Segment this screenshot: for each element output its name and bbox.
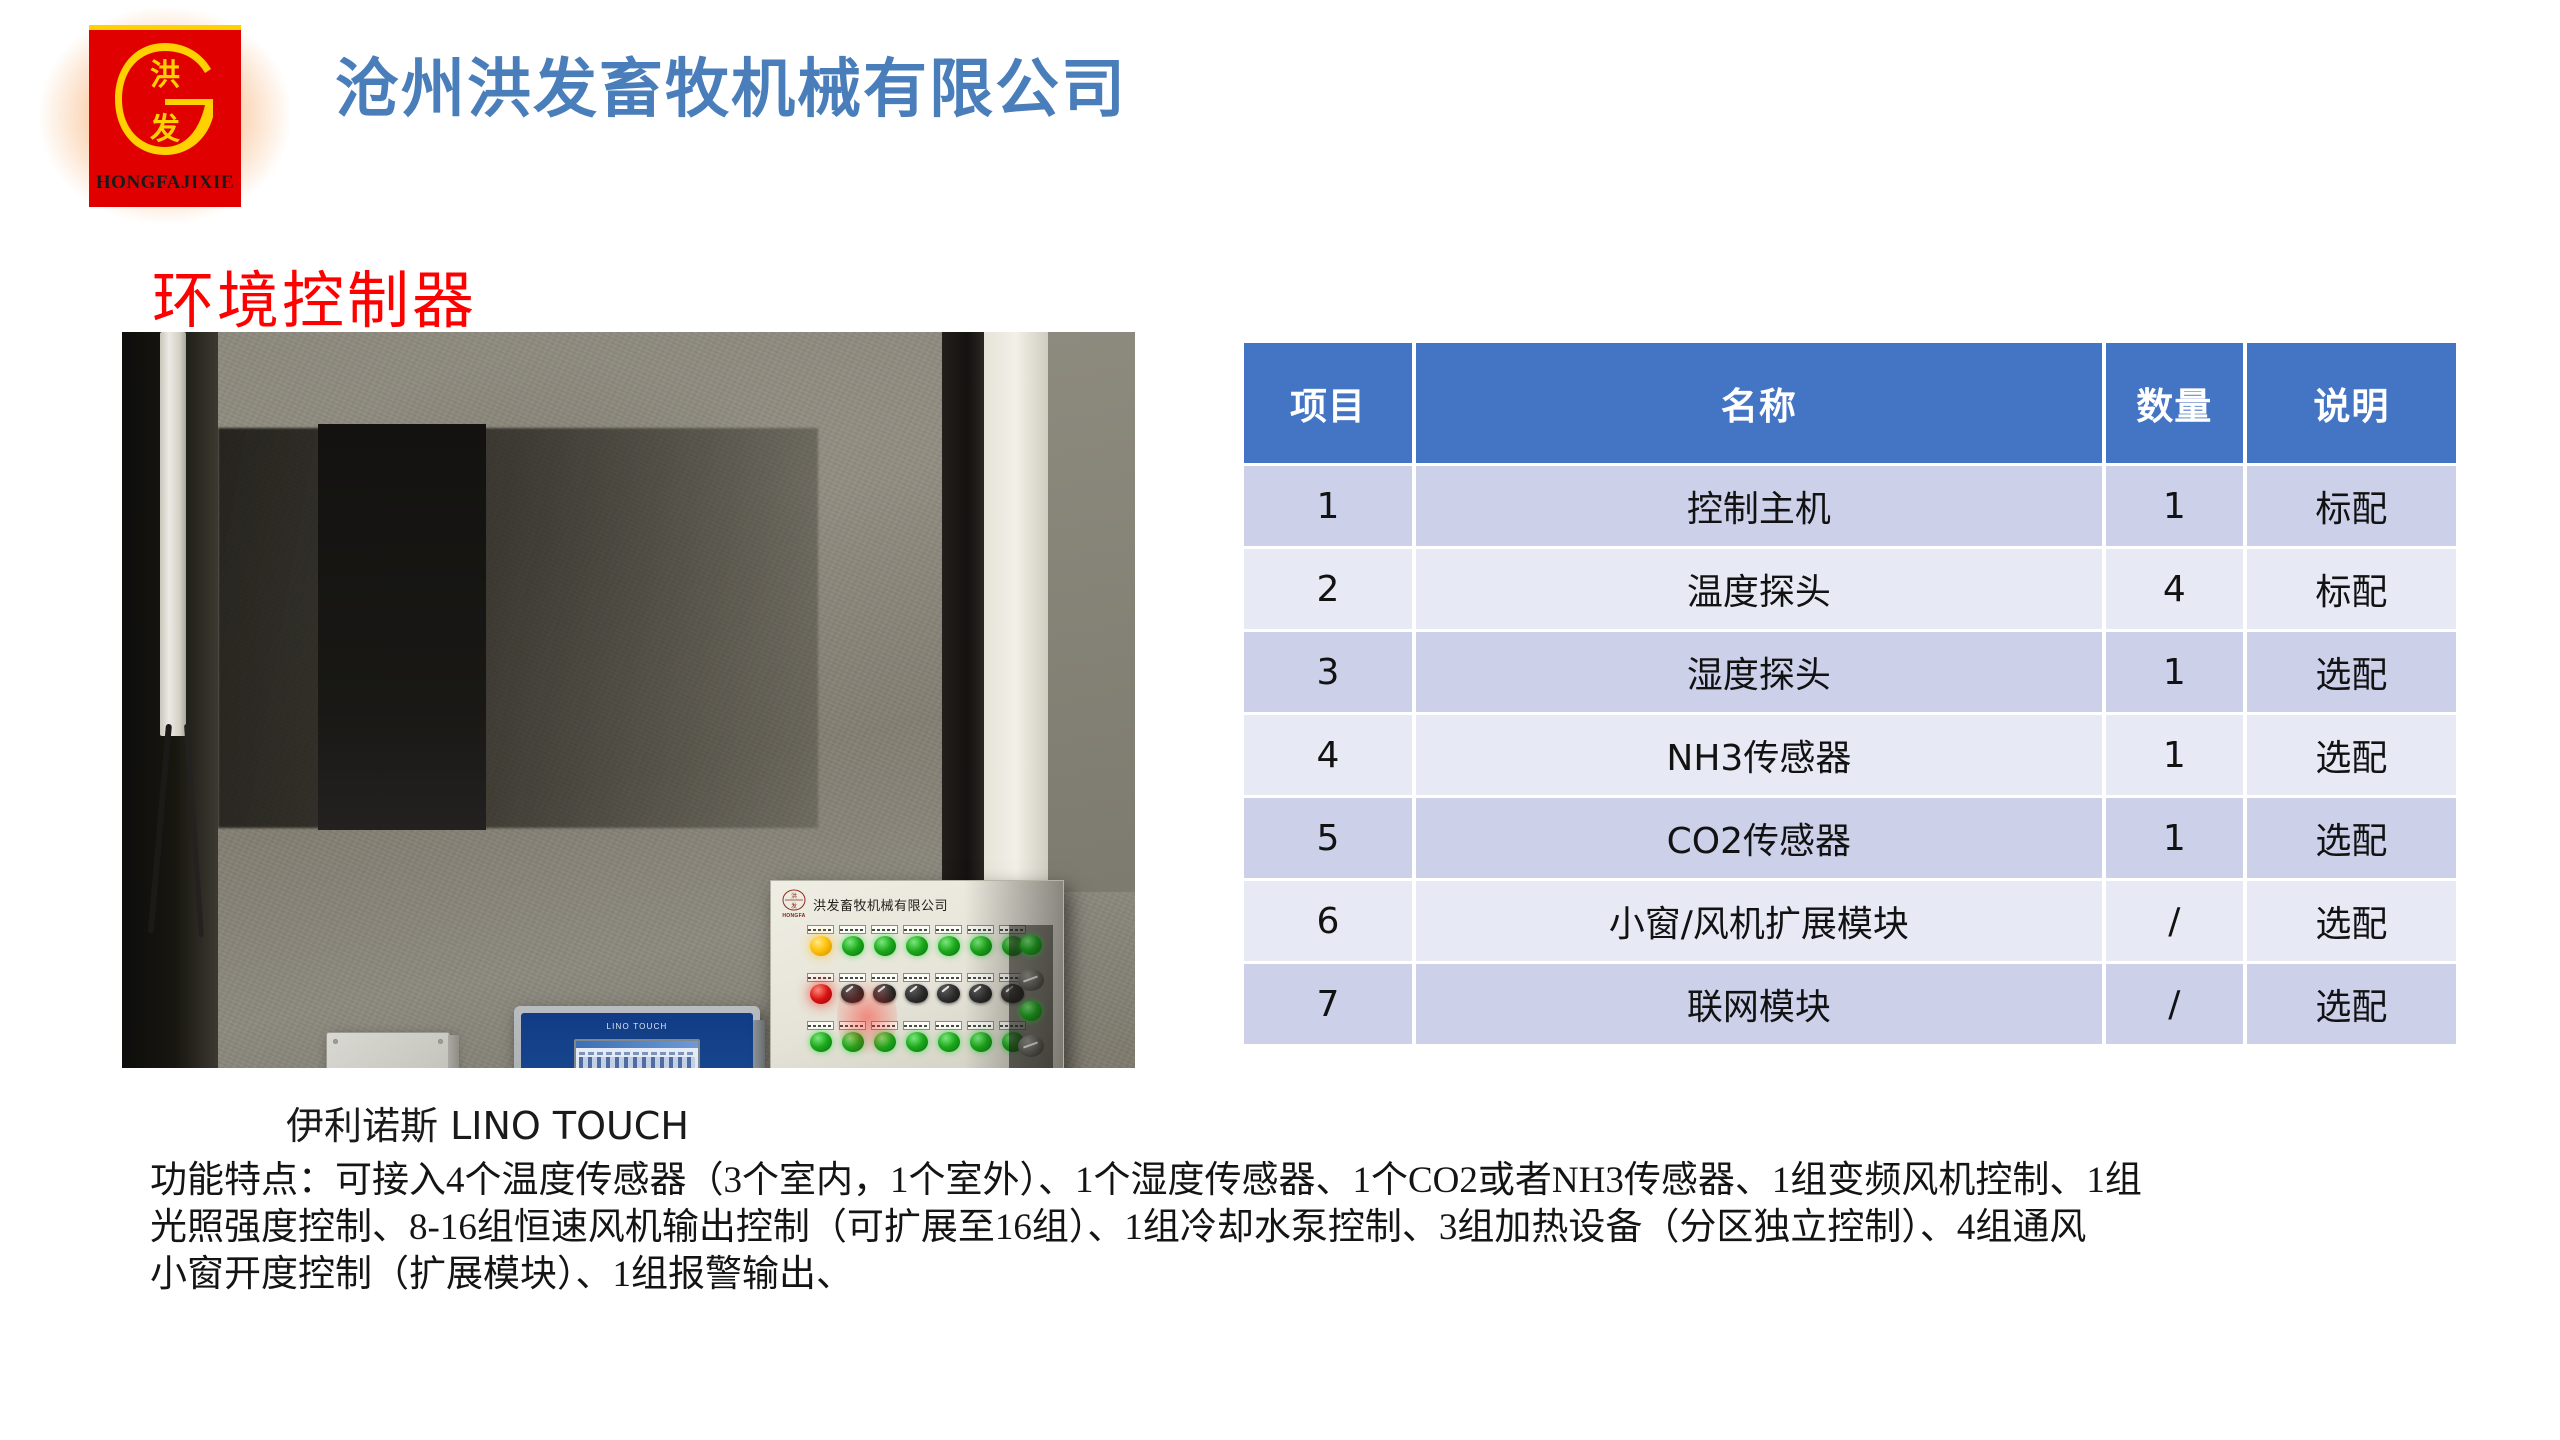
indicator-lamp-green[interactable]	[906, 936, 928, 956]
cabinet-knob-row-1	[807, 973, 1021, 1007]
panel-label	[903, 925, 930, 934]
svg-text:发: 发	[149, 112, 180, 147]
cell-item: 5	[1244, 798, 1412, 878]
company-title: 沧州洪发畜牧机械有限公司	[335, 38, 1127, 130]
cell-qty: 4	[2106, 549, 2243, 629]
controller-brand-label: LINO TOUCH	[606, 1022, 667, 1031]
description-line: 小窗开度控制（扩展模块）、1组报警输出、	[150, 1252, 2450, 1299]
cell-note: 选配	[2247, 798, 2456, 878]
indicator-lamp-green[interactable]	[938, 936, 960, 956]
logo-card: 洪 发 HONGFAJIXIE	[89, 25, 241, 207]
cabinet-logo-icon: 洪 发 HONGFA	[781, 889, 807, 919]
panel-cell	[903, 925, 930, 956]
photo-right-dark-jamb	[942, 332, 984, 888]
table-row: 5 CO2传感器 1 选配	[1244, 798, 2456, 878]
cell-name: NH3传感器	[1416, 715, 2102, 795]
panel-label	[871, 1021, 898, 1030]
panel-label	[967, 1021, 994, 1030]
cabinet-lamp-row-1	[807, 925, 1021, 959]
cell-name: 联网模块	[1416, 964, 2102, 1044]
panel-cell	[935, 1021, 962, 1052]
photo-junction-box-side	[448, 1035, 459, 1068]
section-heading: 环境控制器	[152, 250, 477, 340]
cell-note: 选配	[2247, 964, 2456, 1044]
panel-cell	[839, 973, 866, 1003]
svg-text:发: 发	[791, 902, 797, 910]
slide-root: 洪 发 HONGFAJIXIE 沧州洪发畜牧机械有限公司 环境控制器	[0, 0, 2560, 1440]
logo-emblem-icon: 洪 发	[105, 35, 225, 163]
indicator-lamp-green[interactable]	[842, 936, 864, 956]
panel-label	[871, 925, 898, 934]
panel-label	[967, 925, 994, 934]
column-header-item: 项目	[1244, 343, 1412, 463]
column-header-note: 说明	[2247, 343, 2456, 463]
description-line: 功能特点：可接入4个温度传感器（3个室内，1个室外）、1个湿度传感器、1个CO2…	[150, 1158, 2450, 1205]
cabinet-right-column	[1009, 925, 1053, 1068]
indicator-lamp-green[interactable]	[1020, 935, 1042, 955]
spec-table-body: 1 控制主机 1 标配 2 温度探头 4 标配 3 湿度探头 1 选配 4 NH…	[1244, 466, 2456, 1044]
selector-knob[interactable]	[937, 984, 960, 1003]
cell-note: 标配	[2247, 549, 2456, 629]
indicator-lamp-green[interactable]	[938, 1032, 960, 1052]
photo-right-white-pilaster	[984, 332, 1048, 892]
panel-cell	[871, 973, 898, 1003]
indicator-lamp-yellow[interactable]	[810, 936, 832, 956]
panel-label	[807, 925, 834, 934]
cell-item: 7	[1244, 964, 1412, 1044]
panel-label	[903, 1021, 930, 1030]
photo-caption: 伊利诺斯 LINO TOUCH	[286, 1095, 689, 1150]
cabinet-control-panel	[807, 925, 1021, 1068]
photo-conduit-pipe	[160, 332, 186, 736]
panel-cell	[807, 973, 834, 1004]
indicator-lamp-green[interactable]	[906, 1032, 928, 1052]
cell-note: 选配	[2247, 715, 2456, 795]
indicator-lamp-green[interactable]	[874, 1032, 896, 1052]
svg-text:洪: 洪	[150, 58, 180, 93]
cell-item: 3	[1244, 632, 1412, 712]
spec-table-head: 项目 名称 数量 说明	[1244, 343, 2456, 463]
cell-name: 湿度探头	[1416, 632, 2102, 712]
panel-cell	[967, 1021, 994, 1052]
equipment-photo: LINO TOUCH	[122, 332, 1135, 1068]
lcd-data-block	[579, 1057, 695, 1068]
panel-cell	[967, 973, 994, 1003]
panel-cell	[807, 925, 834, 956]
lcd-content	[576, 1048, 698, 1068]
description-line: 光照强度控制、8-16组恒速风机输出控制（可扩展至16组）、1组冷却水泵控制、3…	[150, 1205, 2450, 1252]
cell-qty: 1	[2106, 466, 2243, 546]
controller-hinge	[753, 1020, 765, 1068]
table-row: 3 湿度探头 1 选配	[1244, 632, 2456, 712]
panel-label	[839, 1021, 866, 1030]
selector-knob[interactable]	[873, 984, 896, 1003]
controller-faceplate: LINO TOUCH	[521, 1013, 753, 1068]
table-row: 2 温度探头 4 标配	[1244, 549, 2456, 629]
cell-name: CO2传感器	[1416, 798, 2102, 878]
lcd-titlebar	[576, 1041, 698, 1048]
controller-lcd-screen	[574, 1039, 700, 1068]
indicator-lamp-green[interactable]	[842, 1032, 864, 1052]
logo-top-bar	[89, 25, 241, 30]
panel-cell	[871, 1021, 898, 1052]
cell-item: 6	[1244, 881, 1412, 961]
panel-cell	[839, 1021, 866, 1052]
rotary-switch[interactable]	[1018, 1035, 1044, 1057]
panel-label	[807, 973, 834, 982]
cell-item: 1	[1244, 466, 1412, 546]
photo-control-cabinet: 洪 发 HONGFA 洪发畜牧机械有限公司	[770, 880, 1064, 1068]
selector-knob[interactable]	[969, 984, 992, 1003]
logo-latin-text: HONGFAJIXIE	[89, 172, 241, 194]
panel-cell	[967, 925, 994, 956]
cabinet-title: 洪发畜牧机械有限公司	[813, 895, 948, 914]
svg-text:洪: 洪	[791, 892, 797, 900]
table-row: 1 控制主机 1 标配	[1244, 466, 2456, 546]
panel-label	[935, 925, 962, 934]
panel-label	[839, 925, 866, 934]
table-row: 4 NH3传感器 1 选配	[1244, 715, 2456, 795]
photo-right-wall	[1048, 332, 1135, 892]
cabinet-lamp-row-2	[807, 1021, 1021, 1055]
panel-label	[935, 1021, 962, 1030]
cabinet-header: 洪 发 HONGFA 洪发畜牧机械有限公司	[781, 889, 948, 919]
feature-description: 功能特点：可接入4个温度传感器（3个室内，1个室外）、1个湿度传感器、1个CO2…	[150, 1158, 2450, 1299]
cell-note: 选配	[2247, 632, 2456, 712]
column-header-name: 名称	[1416, 343, 2102, 463]
selector-knob[interactable]	[905, 984, 928, 1003]
indicator-lamp-green[interactable]	[970, 936, 992, 956]
photo-lino-touch-controller: LINO TOUCH	[514, 1006, 760, 1068]
rotary-switch[interactable]	[1018, 969, 1044, 991]
company-logo: 洪 发 HONGFAJIXIE	[40, 8, 290, 223]
cell-qty: 1	[2106, 632, 2243, 712]
spec-table: 项目 名称 数量 说明 1 控制主机 1 标配 2 温度探头 4 标配 3 湿度…	[1240, 340, 2460, 1047]
cell-qty: 1	[2106, 798, 2243, 878]
panel-cell	[935, 973, 962, 1003]
panel-label	[807, 1021, 834, 1030]
photo-shadow-band	[218, 428, 818, 828]
panel-label	[871, 973, 898, 982]
table-row: 6 小窗/风机扩展模块 / 选配	[1244, 881, 2456, 961]
screw-icon	[333, 1039, 338, 1044]
panel-cell	[807, 1021, 834, 1052]
indicator-lamp-red[interactable]	[810, 984, 832, 1004]
screw-icon	[438, 1039, 443, 1044]
photo-junction-box	[326, 1032, 450, 1068]
cell-name: 小窗/风机扩展模块	[1416, 881, 2102, 961]
indicator-lamp-green[interactable]	[1020, 1001, 1042, 1021]
photo-dark-column	[318, 424, 486, 830]
panel-cell	[935, 925, 962, 956]
cabinet-brand-mark: HONGFA	[781, 913, 807, 919]
cell-qty: /	[2106, 964, 2243, 1044]
panel-label	[839, 973, 866, 982]
cell-qty: 1	[2106, 715, 2243, 795]
panel-cell	[903, 973, 930, 1003]
panel-cell	[839, 925, 866, 956]
cell-item: 4	[1244, 715, 1412, 795]
cell-note: 标配	[2247, 466, 2456, 546]
panel-label	[967, 973, 994, 982]
indicator-lamp-green[interactable]	[874, 936, 896, 956]
panel-cell	[871, 925, 898, 956]
table-row: 7 联网模块 / 选配	[1244, 964, 2456, 1044]
indicator-lamp-green[interactable]	[970, 1032, 992, 1052]
lcd-text-line	[579, 1052, 695, 1055]
cell-note: 选配	[2247, 881, 2456, 961]
column-header-qty: 数量	[2106, 343, 2243, 463]
indicator-lamp-green[interactable]	[810, 1032, 832, 1052]
cell-qty: /	[2106, 881, 2243, 961]
table-header-row: 项目 名称 数量 说明	[1244, 343, 2456, 463]
panel-label	[903, 973, 930, 982]
panel-label	[935, 973, 962, 982]
cell-name: 控制主机	[1416, 466, 2102, 546]
selector-knob[interactable]	[841, 984, 864, 1003]
cell-name: 温度探头	[1416, 549, 2102, 629]
cell-item: 2	[1244, 549, 1412, 629]
panel-cell	[903, 1021, 930, 1052]
